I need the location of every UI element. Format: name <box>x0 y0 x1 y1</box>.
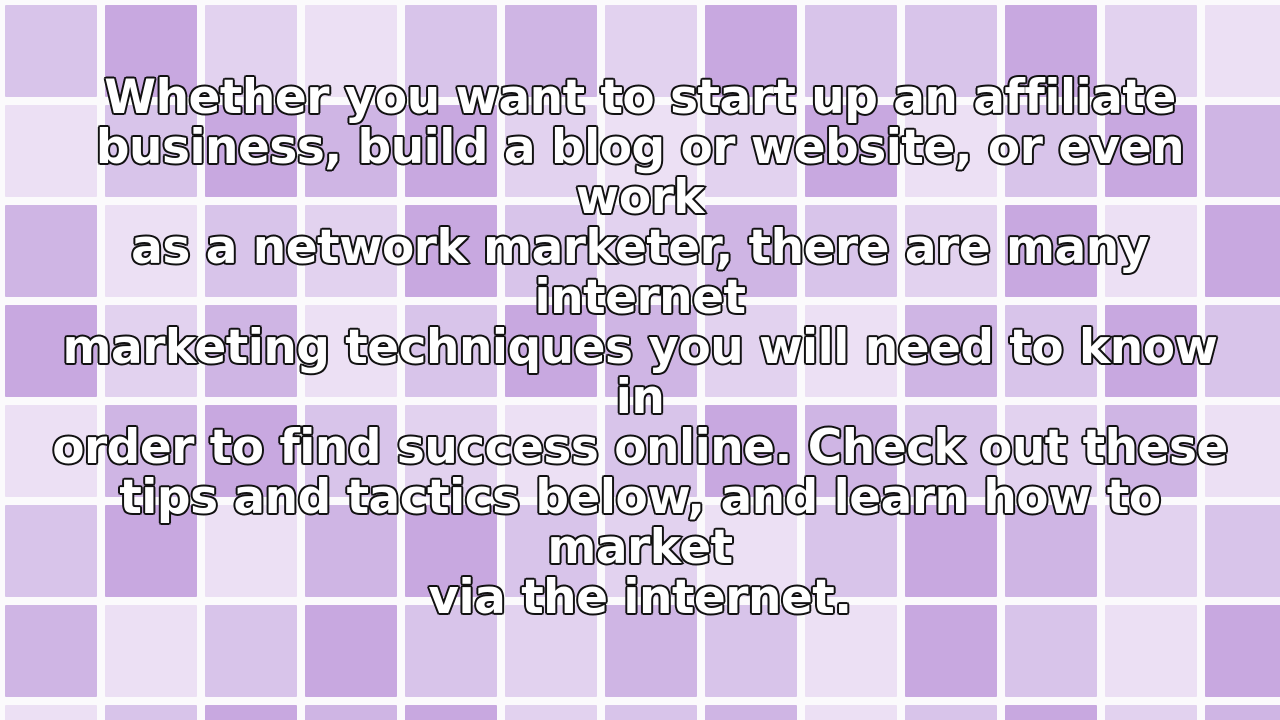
background-tile <box>1005 505 1097 597</box>
background-tile <box>205 5 297 97</box>
background-tile <box>1105 405 1197 497</box>
background-tile <box>705 105 797 197</box>
background-tile <box>5 705 97 720</box>
background-tile <box>5 505 97 597</box>
background-tile <box>505 205 597 297</box>
background-tile <box>1205 5 1280 97</box>
background-tile <box>1005 705 1097 720</box>
background-tile <box>605 5 697 97</box>
background-tile <box>805 405 897 497</box>
background-tile <box>305 705 397 720</box>
background-tile <box>105 405 197 497</box>
background-tile <box>705 505 797 597</box>
background-tile <box>1105 605 1197 697</box>
background-tile <box>205 105 297 197</box>
background-tile <box>5 205 97 297</box>
background-tile <box>1005 105 1097 197</box>
background-tile <box>705 405 797 497</box>
background-tile <box>405 505 497 597</box>
background-tile <box>505 705 597 720</box>
background-tile <box>905 505 997 597</box>
background-tile <box>705 705 797 720</box>
background-tile <box>305 405 397 497</box>
background-tile <box>305 505 397 597</box>
background-tile <box>305 105 397 197</box>
background-tile <box>305 5 397 97</box>
tiled-background <box>5 5 1280 720</box>
background-tile <box>605 705 697 720</box>
background-tile <box>5 305 97 397</box>
background-tile <box>605 505 697 597</box>
slide-canvas: Whether you want to start up an affiliat… <box>0 0 1280 720</box>
background-tile <box>105 705 197 720</box>
background-tile <box>1205 105 1280 197</box>
background-tile <box>405 705 497 720</box>
background-tile <box>405 605 497 697</box>
background-tile <box>805 705 897 720</box>
background-tile <box>605 405 697 497</box>
background-tile <box>5 605 97 697</box>
background-tile <box>105 505 197 597</box>
background-tile <box>105 605 197 697</box>
background-tile <box>405 405 497 497</box>
background-tile <box>105 105 197 197</box>
background-tile <box>305 605 397 697</box>
background-tile <box>1105 305 1197 397</box>
background-tile <box>1205 205 1280 297</box>
background-tile <box>105 205 197 297</box>
background-tile <box>805 505 897 597</box>
background-tile <box>405 5 497 97</box>
background-tile <box>605 105 697 197</box>
background-tile <box>1005 405 1097 497</box>
background-tile <box>905 105 997 197</box>
background-tile <box>5 405 97 497</box>
background-tile <box>205 605 297 697</box>
background-tile <box>905 405 997 497</box>
background-tile <box>205 405 297 497</box>
background-tile <box>1205 505 1280 597</box>
background-tile <box>505 5 597 97</box>
background-tile <box>1105 205 1197 297</box>
background-tile <box>705 205 797 297</box>
background-tile <box>605 605 697 697</box>
background-tile <box>905 605 997 697</box>
background-tile <box>605 205 697 297</box>
background-tile <box>205 205 297 297</box>
background-tile <box>1205 705 1280 720</box>
background-tile <box>805 205 897 297</box>
background-tile <box>505 305 597 397</box>
background-tile <box>505 605 597 697</box>
background-tile <box>805 305 897 397</box>
background-tile <box>705 5 797 97</box>
background-tile <box>405 305 497 397</box>
background-tile <box>905 705 997 720</box>
background-tile <box>505 505 597 597</box>
background-tile <box>205 705 297 720</box>
background-tile <box>705 605 797 697</box>
background-tile <box>205 305 297 397</box>
background-tile <box>1205 405 1280 497</box>
background-tile <box>705 305 797 397</box>
background-tile <box>1005 5 1097 97</box>
background-tile <box>305 205 397 297</box>
background-tile <box>5 5 97 97</box>
background-tile <box>805 5 897 97</box>
background-tile <box>1105 5 1197 97</box>
background-tile <box>805 605 897 697</box>
background-tile <box>1105 705 1197 720</box>
background-tile <box>605 305 697 397</box>
background-tile <box>505 405 597 497</box>
background-tile <box>105 5 197 97</box>
background-tile <box>905 305 997 397</box>
background-tile <box>905 205 997 297</box>
background-tile <box>405 105 497 197</box>
background-tile <box>1005 205 1097 297</box>
background-tile <box>1205 305 1280 397</box>
background-tile <box>305 305 397 397</box>
background-tile <box>905 5 997 97</box>
background-tile <box>1205 605 1280 697</box>
background-tile <box>1105 105 1197 197</box>
background-tile <box>405 205 497 297</box>
background-tile <box>1105 505 1197 597</box>
background-tile <box>5 105 97 197</box>
background-tile <box>805 105 897 197</box>
background-tile <box>1005 605 1097 697</box>
background-tile <box>105 305 197 397</box>
background-tile <box>1005 305 1097 397</box>
background-tile <box>505 105 597 197</box>
background-tile <box>205 505 297 597</box>
